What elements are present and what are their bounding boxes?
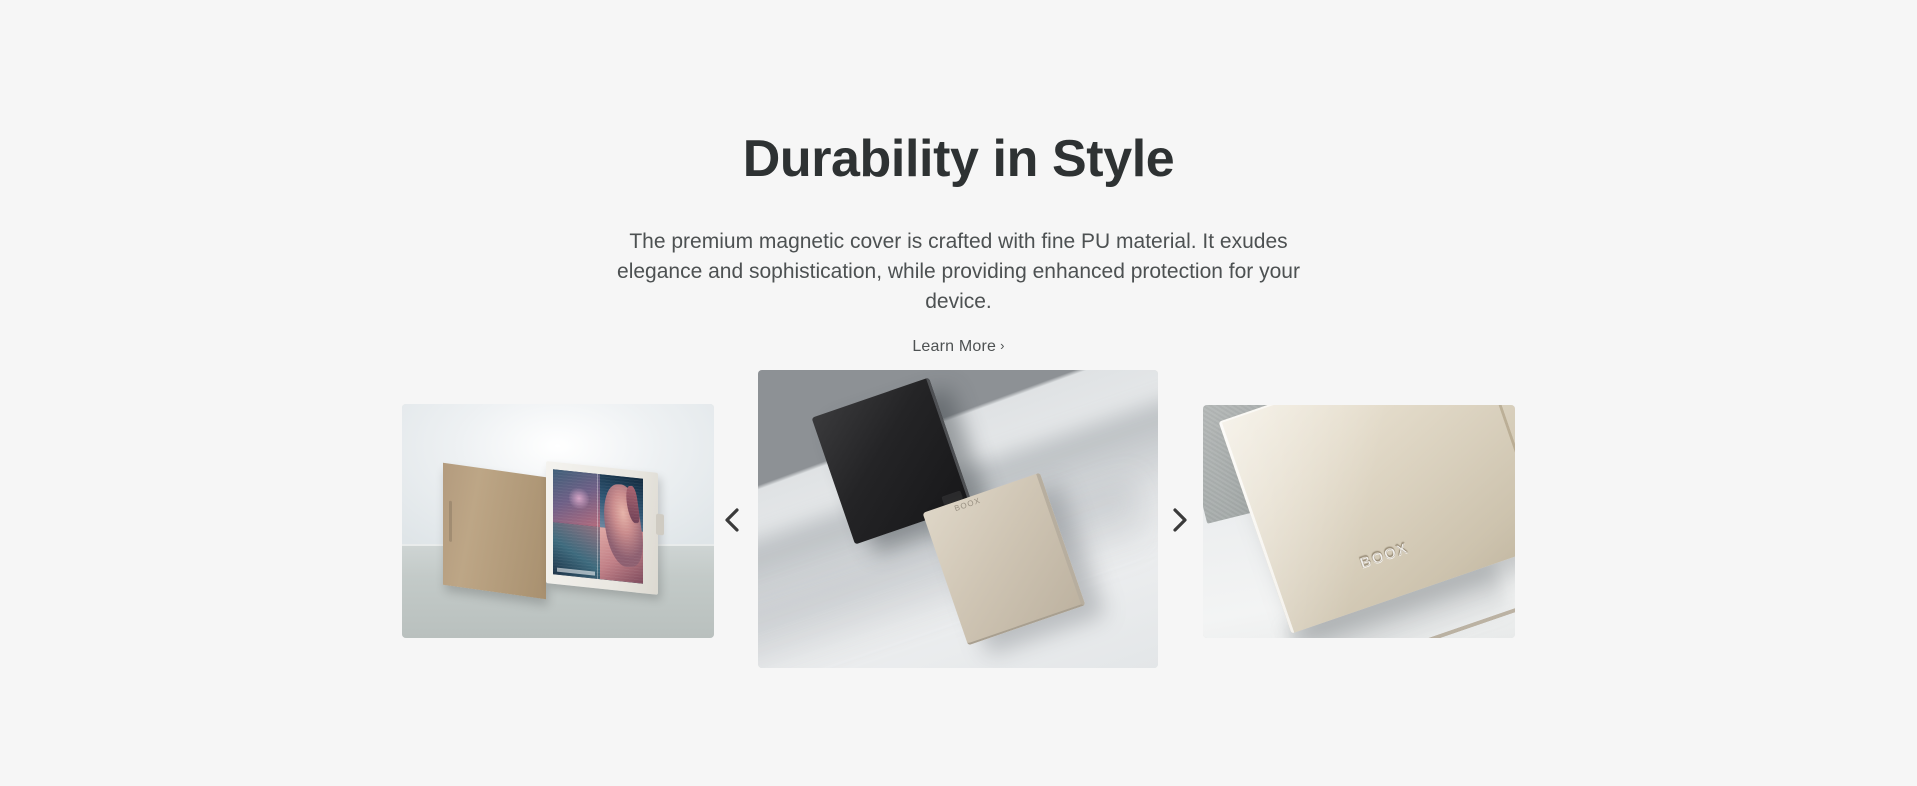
carousel-prev-button[interactable] xyxy=(715,503,749,537)
carousel-slide-open-folio-ereader[interactable] xyxy=(402,404,714,638)
product-photo-open-folio xyxy=(402,404,714,638)
chevron-right-icon xyxy=(1171,506,1189,534)
product-photo-boox-closeup: BOOX xyxy=(1203,405,1515,638)
carousel-slide-two-closed-cases[interactable]: BOOX xyxy=(758,370,1158,668)
image-carousel[interactable]: BOOX BOOX xyxy=(0,0,1917,786)
carousel-next-button[interactable] xyxy=(1163,503,1197,537)
chevron-left-icon xyxy=(723,506,741,534)
product-feature-section: Durability in Style The premium magnetic… xyxy=(0,0,1917,786)
product-photo-two-cases: BOOX xyxy=(758,370,1158,668)
carousel-slide-boox-logo-closeup[interactable]: BOOX xyxy=(1203,405,1515,638)
